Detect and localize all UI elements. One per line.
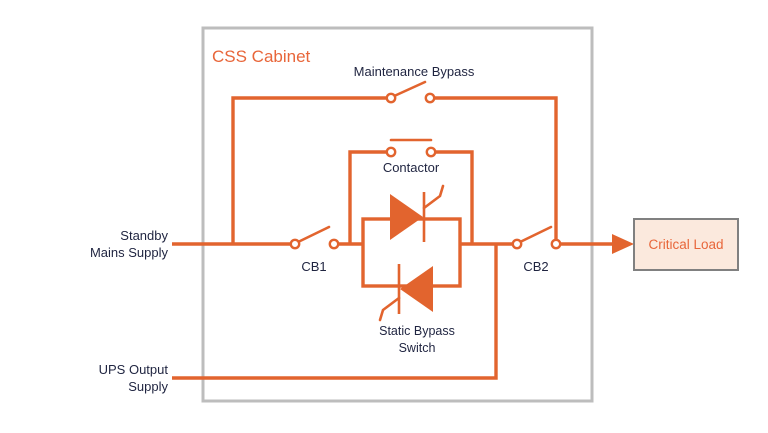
- thyristor-bottom-triangle: [400, 266, 433, 312]
- cb1-terminal-right[interactable]: [330, 240, 338, 248]
- maintenance-bypass-terminal-left[interactable]: [387, 94, 395, 102]
- standby-supply-label-line2: Mains Supply: [90, 245, 169, 260]
- bypass-left-conductor: [233, 98, 389, 244]
- ups-supply-label-line1: UPS Output: [99, 362, 169, 377]
- contactor-label: Contactor: [383, 160, 440, 175]
- static-bypass-label-line1: Static Bypass: [379, 324, 455, 338]
- thyristor-top-triangle: [390, 194, 423, 240]
- maintenance-bypass-label: Maintenance Bypass: [354, 64, 475, 79]
- critical-load-box[interactable]: Critical Load: [634, 219, 738, 270]
- thyristor-bottom-gate: [380, 298, 399, 320]
- cb1-terminal-left[interactable]: [291, 240, 299, 248]
- static-bypass-switch[interactable]: Static Bypass Switch: [363, 186, 460, 355]
- cb2-terminal-right[interactable]: [552, 240, 560, 248]
- ups-output-conductor: [172, 244, 496, 378]
- load-arrowhead: [612, 234, 634, 254]
- contactor-terminal-left[interactable]: [387, 148, 395, 156]
- css-cabinet-diagram: CSS Cabinet Maintenance Bypass Contactor: [0, 0, 768, 433]
- maintenance-bypass-terminal-right[interactable]: [426, 94, 434, 102]
- maintenance-bypass-blade[interactable]: [392, 82, 425, 97]
- static-bypass-label-line2: Switch: [399, 341, 436, 355]
- cb2-label: CB2: [523, 259, 548, 274]
- cb1-label: CB1: [301, 259, 326, 274]
- thyristor-top-gate: [424, 186, 443, 208]
- ups-supply-label-line2: Supply: [128, 379, 168, 394]
- cb2-terminal-left[interactable]: [513, 240, 521, 248]
- cb1-breaker[interactable]: CB1: [291, 227, 338, 274]
- cb1-blade[interactable]: [296, 227, 329, 243]
- contactor-branch: Contactor: [350, 140, 472, 244]
- critical-load-label: Critical Load: [648, 237, 723, 252]
- schematic-canvas: CSS Cabinet Maintenance Bypass Contactor: [0, 0, 768, 433]
- thyristor-block-outline: [363, 219, 460, 286]
- cb2-breaker[interactable]: CB2: [513, 227, 560, 274]
- contactor-terminal-right[interactable]: [427, 148, 435, 156]
- cb2-blade[interactable]: [518, 227, 551, 243]
- bypass-right-conductor: [431, 98, 556, 244]
- standby-supply-label-line1: Standby: [120, 228, 168, 243]
- cabinet-title: CSS Cabinet: [212, 47, 311, 66]
